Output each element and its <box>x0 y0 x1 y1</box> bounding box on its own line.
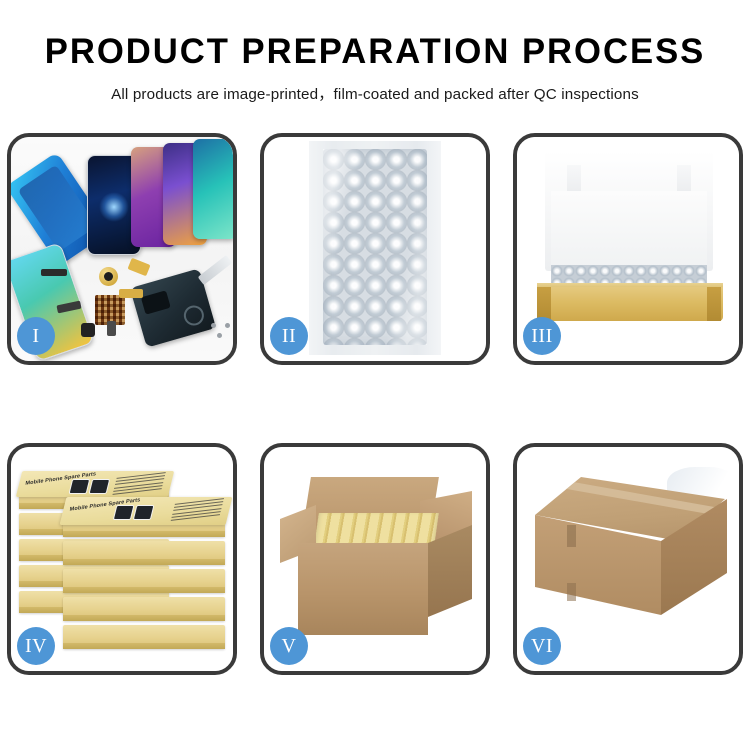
flex-cable-part-b <box>119 289 143 298</box>
film-sheen <box>323 149 427 345</box>
screw-part-1 <box>217 333 222 338</box>
earpiece-part <box>41 269 67 276</box>
process-step-3: III <box>513 133 743 365</box>
foam-sheet <box>551 191 707 269</box>
step-badge-2: II <box>270 317 308 355</box>
battery-connector-part <box>107 321 116 336</box>
box-side-right <box>707 287 721 321</box>
step-badge-5: V <box>270 627 308 665</box>
screw-part-2 <box>225 323 230 328</box>
step-badge-4: IV <box>17 627 55 665</box>
step-badge-1: I <box>17 317 55 355</box>
box-label-phone-image-b <box>133 505 155 520</box>
tweezers-tool <box>198 255 233 285</box>
box-label-phone-image-a <box>113 505 135 520</box>
carton-edge-seam-top <box>567 525 576 547</box>
process-step-5: V <box>260 443 490 675</box>
carton-edge-seam-bottom <box>567 583 576 601</box>
process-step-grid: I II II <box>0 133 750 693</box>
stacked-box <box>63 541 225 565</box>
box-front-panel <box>537 287 723 321</box>
camera-module-part <box>81 323 95 337</box>
process-step-4: Mobile Phone Spare Parts Mobile Phone Sp… <box>7 443 237 675</box>
header: PRODUCT PREPARATION PROCESS All products… <box>0 0 750 104</box>
box-label-phone-image-a <box>69 479 91 494</box>
step-badge-3: III <box>523 317 561 355</box>
box-label-phone-image-b <box>89 479 111 494</box>
printed-box-lid-front: Mobile Phone Spare Parts <box>60 497 233 525</box>
phone-screen-teal <box>193 139 233 239</box>
box-side-left <box>537 287 551 321</box>
box-stack: Mobile Phone Spare Parts Mobile Phone Sp… <box>17 469 229 653</box>
screw-part-3 <box>211 323 216 328</box>
process-step-2: II <box>260 133 490 365</box>
page-title: PRODUCT PREPARATION PROCESS <box>4 34 747 71</box>
flex-cable-part-a <box>127 258 150 277</box>
process-step-6: VI <box>513 443 743 675</box>
stacked-box <box>63 625 225 649</box>
process-step-1: I <box>7 133 237 365</box>
page-subtitle: All products are image-printed，film-coat… <box>0 82 750 104</box>
carton-front <box>298 543 428 635</box>
speaker-coil-part <box>99 267 118 286</box>
stacked-box <box>63 569 225 593</box>
product-preparation-infographic: PRODUCT PREPARATION PROCESS All products… <box>0 0 750 750</box>
box-label-spec-lines <box>112 475 165 495</box>
printed-box-lid-back: Mobile Phone Spare Parts <box>16 471 174 497</box>
stacked-box <box>63 597 225 621</box>
box-label-spec-lines <box>171 501 224 521</box>
step-badge-6: VI <box>523 627 561 665</box>
